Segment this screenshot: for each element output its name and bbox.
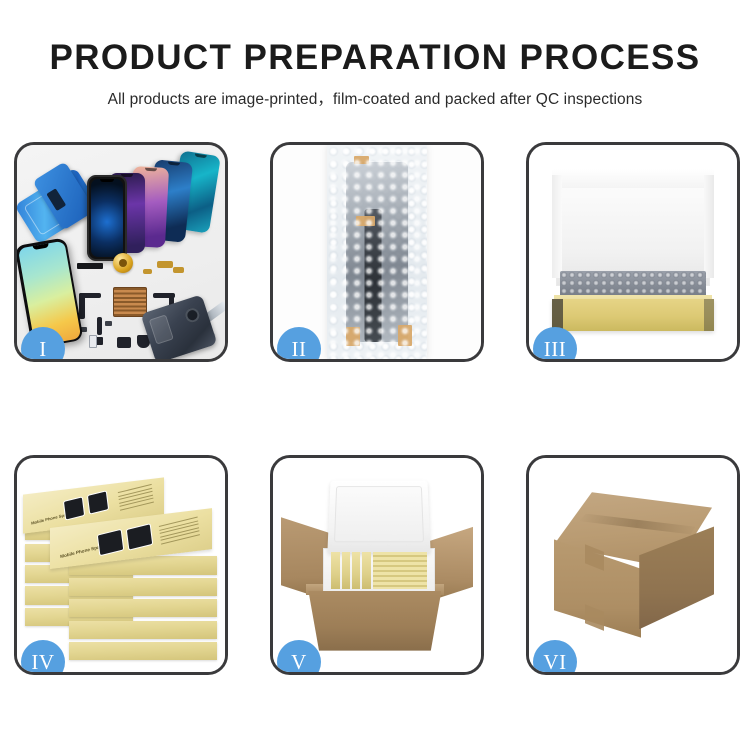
gold-connector	[157, 261, 173, 268]
page-subtitle: All products are image-printed，film-coat…	[0, 87, 750, 109]
retail-box-upright	[352, 552, 360, 588]
flex-cable	[97, 317, 102, 335]
process-step-2[interactable]: II	[270, 142, 484, 362]
process-step-4[interactable]: Mobile Phone Spare Parts Mobile Phone Sp…	[14, 455, 228, 675]
foam-lid-top	[552, 169, 714, 188]
phone-screen-fan	[89, 153, 225, 261]
foam-lid-left	[552, 175, 562, 278]
gold-connector	[173, 267, 184, 273]
process-step-3[interactable]: III	[526, 142, 740, 362]
speaker-component	[113, 253, 133, 273]
box-edge	[69, 621, 217, 639]
sim-tray	[89, 335, 97, 348]
box-artwork-phone	[127, 524, 152, 549]
retail-box-upright	[331, 552, 339, 588]
process-step-5[interactable]: V	[270, 455, 484, 675]
retail-box-upright	[342, 552, 350, 588]
micro-chip	[105, 321, 112, 326]
process-step-1[interactable]: I	[14, 142, 228, 362]
page-title: PRODUCT PREPARATION PROCESS	[0, 38, 750, 78]
retail-box-upright	[362, 552, 370, 588]
box-spec-lines	[118, 484, 154, 513]
antenna-strip	[77, 263, 103, 269]
box-edge	[69, 599, 217, 617]
copper-chip-grid	[113, 287, 147, 317]
foam-lid-right	[704, 175, 714, 278]
phone-display-front-glass	[87, 175, 127, 261]
process-step-grid: I II III	[14, 142, 740, 675]
bubble-texture-overlay	[327, 145, 427, 359]
gold-connector	[143, 269, 152, 274]
box-edge	[69, 578, 217, 596]
foam-lid-back	[556, 175, 710, 286]
flex-cable	[79, 293, 101, 298]
small-component	[117, 337, 131, 348]
page-header: PRODUCT PREPARATION PROCESS All products…	[0, 0, 750, 109]
retail-box-stack-inside	[373, 552, 427, 588]
box-edge	[69, 642, 217, 660]
box-artwork-phone	[98, 530, 123, 555]
box-artwork-phone	[89, 492, 109, 514]
foam-lid-open	[328, 481, 431, 553]
box-artwork-phone	[65, 497, 85, 519]
inner-box-front	[552, 299, 714, 331]
phone-back-housing	[141, 294, 218, 359]
process-step-6[interactable]: VI	[526, 455, 740, 675]
box-spec-lines	[159, 516, 200, 546]
carton-body	[308, 591, 441, 651]
